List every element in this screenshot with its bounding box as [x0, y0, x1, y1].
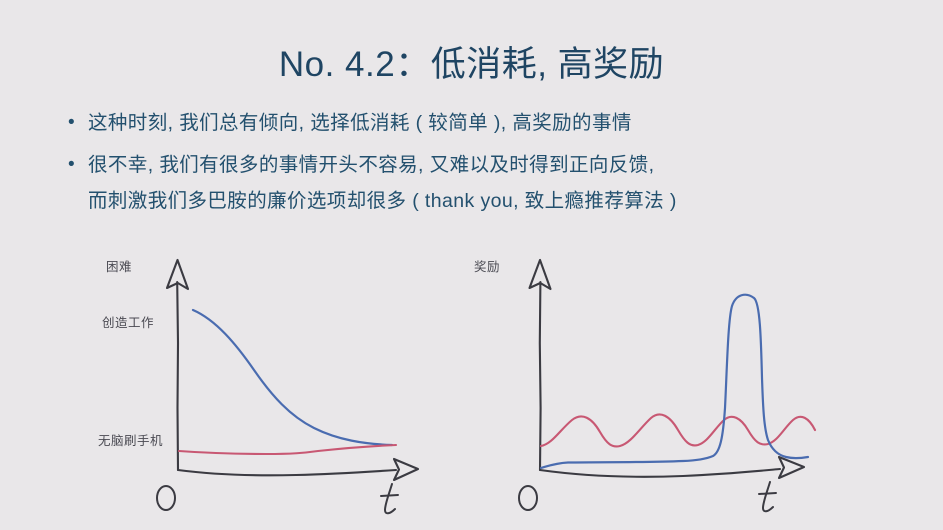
- series-line-mindless-phone: [179, 445, 396, 454]
- x-axis-label: [763, 482, 773, 511]
- series-annotation-mindless-phone: 无脑刷手机: [98, 430, 163, 449]
- y-axis-line: [177, 282, 178, 470]
- x-axis-line: [540, 469, 780, 477]
- bullet-text-block: 很不幸, 我们有很多的事情开头不容易, 又难以及时得到正向反馈, 而刺激我们多巴…: [88, 147, 922, 219]
- page-title: No. 4.2：低消耗, 高奖励: [0, 36, 943, 87]
- bullet-line: 这种时刻, 我们总有倾向, 选择低消耗 ( 较简单 ), 高奖励的事情: [88, 112, 632, 134]
- bullet-list: • 这种时刻, 我们总有倾向, 选择低消耗 ( 较简单 ), 高奖励的事情 • …: [62, 105, 922, 225]
- x-axis-label-cross: [759, 493, 776, 494]
- bullet-line: 很不幸, 我们有很多的事情开头不容易, 又难以及时得到正向反馈,: [88, 154, 654, 176]
- reward-chart-canvas: [468, 248, 828, 516]
- x-axis-arrow-icon: [779, 457, 804, 478]
- difficulty-chart-canvas: [96, 248, 436, 516]
- x-axis-line: [178, 470, 396, 475]
- bullet-marker-icon: •: [62, 147, 88, 183]
- bullet-line: 而刺激我们多巴胺的廉价选项却很多 ( thank you, 致上瘾推荐算法 ): [88, 183, 922, 219]
- x-axis-label-cross: [381, 495, 398, 496]
- list-item: • 很不幸, 我们有很多的事情开头不容易, 又难以及时得到正向反馈, 而刺激我们…: [62, 147, 922, 219]
- y-axis-line: [540, 282, 541, 470]
- slide-canvas: No. 4.2：低消耗, 高奖励 • 这种时刻, 我们总有倾向, 选择低消耗 (…: [0, 0, 943, 530]
- origin-label: [157, 486, 175, 510]
- series-annotation-creative-work: 创造工作: [102, 312, 154, 331]
- x-axis-label: [385, 484, 395, 513]
- difficulty-chart: 困难 创造工作 无脑刷手机: [96, 248, 436, 516]
- origin-label: [519, 486, 537, 510]
- series-line-delayed-reward: [541, 295, 808, 468]
- bullet-marker-icon: •: [62, 105, 88, 141]
- x-axis-arrow-icon: [394, 459, 418, 480]
- series-line-cheap-dopamine: [541, 414, 815, 446]
- bullet-text-block: 这种时刻, 我们总有倾向, 选择低消耗 ( 较简单 ), 高奖励的事情: [88, 105, 922, 141]
- y-axis-label: 困难: [106, 256, 132, 275]
- list-item: • 这种时刻, 我们总有倾向, 选择低消耗 ( 较简单 ), 高奖励的事情: [62, 105, 922, 141]
- y-axis-label: 奖励: [474, 256, 500, 275]
- reward-chart: 奖励: [468, 248, 828, 516]
- series-line-creative-work: [193, 310, 392, 445]
